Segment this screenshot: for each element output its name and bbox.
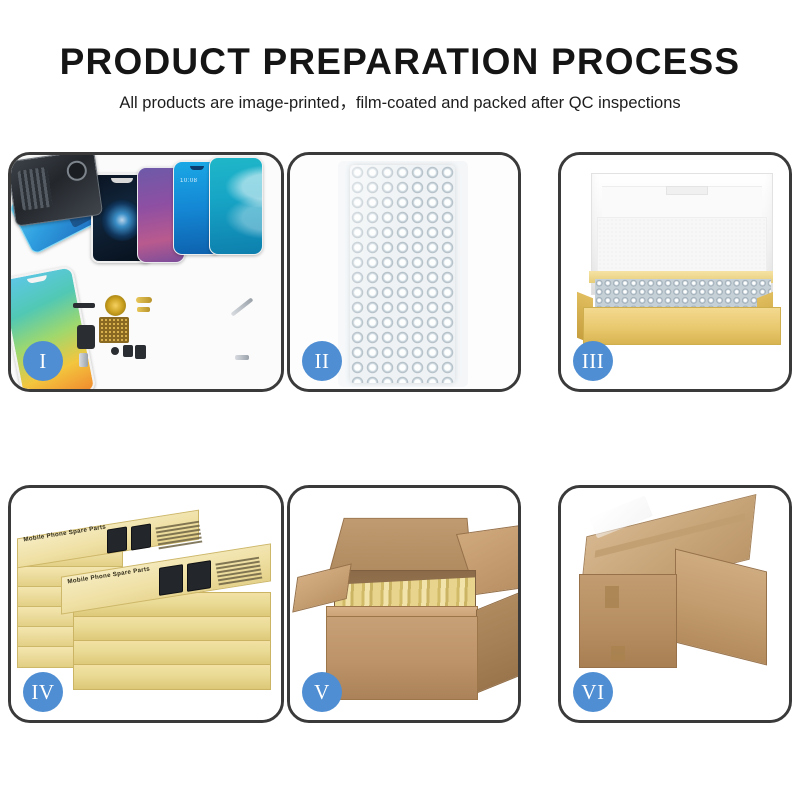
- spare-part-sim-tray: [79, 353, 88, 367]
- phone-internals-opened: [11, 155, 103, 227]
- spare-part-screws: [235, 355, 249, 360]
- process-step-panel-4: Mobile Phone Spare Parts Mobile Phone Sp…: [8, 485, 284, 723]
- retail-box-front-4: [73, 664, 271, 690]
- step-badge-3: III: [573, 341, 613, 381]
- process-step-panel-2: II: [287, 152, 521, 392]
- step-badge-5: V: [302, 672, 342, 712]
- page-subtitle: All products are image-printed，film-coat…: [0, 93, 800, 113]
- phone-clock-text: 10:08: [180, 178, 198, 184]
- retail-box-art-rear-a: [107, 526, 127, 553]
- page-header: PRODUCT PREPARATION PROCESS All products…: [0, 0, 800, 113]
- sealed-carton-tab-lower: [611, 646, 625, 662]
- retail-box-front-3: [73, 640, 271, 666]
- process-step-panel-5: V: [287, 485, 521, 723]
- retail-box-art-rear-b: [131, 523, 151, 550]
- carton-right-side: [476, 590, 518, 693]
- inner-box-lid-tab: [666, 186, 708, 195]
- spare-part-connector: [137, 307, 150, 312]
- bubble-wrap-sheen: [350, 165, 455, 383]
- process-step-panel-6: VI: [558, 485, 792, 723]
- spare-part-button: [111, 347, 119, 355]
- spare-part-ribbon: [77, 325, 95, 349]
- phone-display-teal: [209, 157, 263, 255]
- retail-box-art-front-b: [187, 560, 211, 592]
- bubble-wrap-sheet: [350, 165, 455, 383]
- spare-part-camera: [123, 345, 133, 357]
- process-step-panel-1: 10:08 I: [8, 152, 284, 392]
- spare-part-battery: [135, 345, 146, 359]
- spare-part-ic-board: [99, 317, 129, 343]
- retail-box-art-front-a: [159, 564, 183, 596]
- step-badge-6: VI: [573, 672, 613, 712]
- sealed-carton-tab-upper: [605, 586, 619, 608]
- speaker-coil-part: [105, 295, 126, 316]
- process-step-panel-3: III: [558, 152, 792, 392]
- inner-box-foam-liner: [597, 217, 767, 277]
- spare-part-chip: [73, 303, 95, 308]
- product-preparation-process-page: PRODUCT PREPARATION PROCESS All products…: [0, 0, 800, 800]
- retail-box-front-2: [73, 616, 271, 642]
- step-badge-4: IV: [23, 672, 63, 712]
- step-badge-1: I: [23, 341, 63, 381]
- page-title: PRODUCT PREPARATION PROCESS: [0, 40, 800, 84]
- step-badge-2: II: [302, 341, 342, 381]
- inner-box-front-panel: [583, 307, 781, 345]
- carton-front-panel: [326, 616, 478, 700]
- sealed-carton-front-face: [579, 574, 677, 668]
- spare-part-flex-cable: [136, 297, 152, 303]
